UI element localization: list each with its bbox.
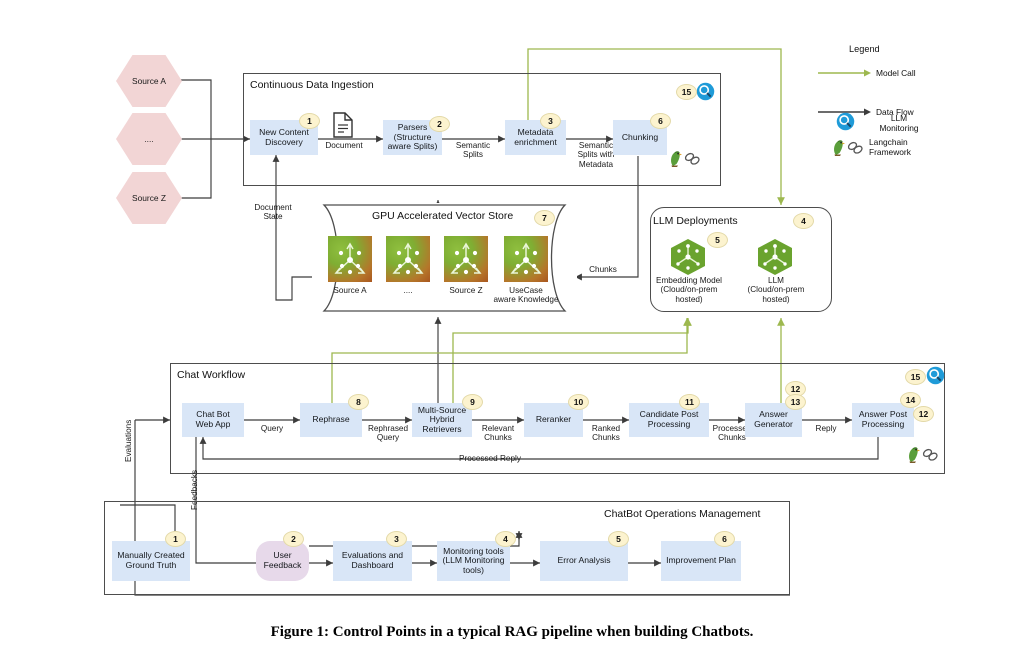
llm-icon (755, 238, 795, 276)
node-label: User Feedback (264, 551, 302, 570)
group-title-vector-store: GPU Accelerated Vector Store (372, 210, 513, 222)
legend-label-llm-monitoring: LLM Monitoring (872, 113, 926, 133)
node-label: Chat Bot Web App (196, 410, 231, 429)
node-label: Evaluations and Dashboard (342, 551, 403, 570)
llm-monitoring-icon (836, 112, 855, 131)
badge-chat-13: 13 (785, 394, 806, 410)
badge-chat-14: 14 (900, 392, 921, 408)
node-label: Improvement Plan (666, 556, 736, 566)
vector-tile-caption: Source A (324, 286, 376, 295)
vector-tile-usecase (504, 236, 548, 282)
edge-label-rephrased-query: Rephrased Query (363, 424, 413, 443)
node-label: Multi-Source Hybrid Retrievers (418, 406, 466, 435)
node-answer-post-processing[interactable]: Answer Post Processing (852, 403, 914, 437)
edge-label-document: Document (322, 141, 366, 150)
legend-label-model-call: Model Call (876, 68, 916, 78)
group-title-ops: ChatBot Operations Management (604, 508, 760, 520)
node-label: Answer Post Processing (859, 410, 907, 429)
edge-label-query: Query (252, 424, 292, 433)
node-manually-created-ground-truth[interactable]: Manually Created Ground Truth (112, 541, 190, 581)
langchain-framework-icon (667, 148, 701, 168)
node-multi-source-hybrid-retrievers[interactable]: Multi-Source Hybrid Retrievers (412, 403, 472, 437)
badge-ingestion-1: 1 (299, 113, 320, 129)
vector-tile-caption: UseCase aware Knowledge (492, 286, 560, 305)
node-improvement-plan[interactable]: Improvement Plan (661, 541, 741, 581)
edge-label-chunks: Chunks (583, 265, 623, 274)
node-error-analysis[interactable]: Error Analysis (540, 541, 628, 581)
node-label: Chunking (622, 133, 658, 143)
edge-label-document-state: Document State (248, 203, 298, 222)
node-evaluations-and-dashboard[interactable]: Evaluations and Dashboard (333, 541, 412, 581)
vector-tile-caption: Source Z (440, 286, 492, 295)
badge-ops-6: 6 (714, 531, 735, 547)
vector-tile-ellipsis (386, 236, 430, 282)
group-title-ingestion: Continuous Data Ingestion (250, 79, 374, 91)
embedding-model-label: Embedding Model (Cloud/on-prem hosted) (651, 276, 727, 304)
source-hexagon-ellipsis: .... (116, 113, 182, 165)
side-label-evaluations: Evaluations (124, 420, 133, 462)
badge-ops-1: 1 (165, 531, 186, 547)
diagram-canvas: Source A .... Source Z Continuous Data I… (0, 0, 1024, 664)
vector-tile-caption: .... (382, 286, 434, 295)
badge-embedding-model-5: 5 (707, 232, 728, 248)
node-label: Answer Generator (754, 410, 793, 429)
source-hexagon-z: Source Z (116, 172, 182, 224)
figure-caption: Figure 1: Control Points in a typical RA… (0, 624, 1024, 641)
document-icon (332, 112, 354, 138)
node-label: Manually Created Ground Truth (117, 551, 184, 570)
group-title-chat-workflow: Chat Workflow (177, 369, 245, 381)
badge-chat-10: 10 (568, 394, 589, 410)
badge-chat-15: 15 (905, 369, 926, 385)
node-chat-bot-web-app[interactable]: Chat Bot Web App (182, 403, 244, 437)
llm-monitoring-icon (926, 366, 945, 385)
langchain-framework-icon (905, 444, 939, 464)
legend-label-langchain-framework: Langchain Framework (869, 137, 911, 157)
badge-ingestion-6: 6 (650, 113, 671, 129)
edge-label-semantic-splits: Semantic Splits (447, 141, 499, 160)
vector-tile-source-z (444, 236, 488, 282)
source-label: Source Z (132, 193, 166, 203)
node-label: Error Analysis (557, 556, 610, 566)
node-label: Rephrase (312, 415, 349, 425)
source-label: Source A (132, 76, 166, 86)
badge-ingestion-15: 15 (676, 84, 697, 100)
node-user-feedback[interactable]: User Feedback (256, 541, 309, 581)
embedding-model-icon (668, 238, 708, 276)
badge-chat-12b: 12 (913, 406, 934, 422)
llm-monitoring-icon (696, 82, 715, 101)
vector-tile-source-a (328, 236, 372, 282)
source-hexagon-a: Source A (116, 55, 182, 107)
edge-label-reply: Reply (806, 424, 846, 433)
badge-chat-11: 11 (679, 394, 700, 410)
badge-ops-2: 2 (283, 531, 304, 547)
badge-chat-8: 8 (348, 394, 369, 410)
node-candidate-post-processing[interactable]: Candidate Post Processing (629, 403, 709, 437)
badge-chat-9: 9 (462, 394, 483, 410)
node-label: New Content Discovery (259, 128, 309, 147)
legend-model-call-arrow-icon (818, 68, 874, 78)
badge-ops-4: 4 (495, 531, 516, 547)
langchain-framework-icon (830, 137, 864, 157)
node-monitoring-tools[interactable]: Monitoring tools (LLM Monitoring tools) (437, 541, 510, 581)
node-label: Monitoring tools (LLM Monitoring tools) (442, 547, 504, 576)
badge-ops-5: 5 (608, 531, 629, 547)
node-label: Candidate Post Processing (640, 410, 699, 429)
badge-ingestion-2: 2 (429, 116, 450, 132)
group-title-llm-deployments: LLM Deployments (653, 215, 738, 227)
llm-label: LLM (Cloud/on-prem hosted) (736, 276, 816, 304)
edge-label-processed-reply: Processed Reply (435, 454, 545, 463)
badge-ops-3: 3 (386, 531, 407, 547)
node-label: Reranker (536, 415, 571, 425)
source-label: .... (144, 134, 153, 144)
badge-vector-store-7: 7 (534, 210, 555, 226)
edge-label-relevant-chunks: Relevant Chunks (472, 424, 524, 443)
legend-title: Legend (849, 44, 880, 54)
node-label: Metadata enrichment (514, 128, 557, 147)
badge-ingestion-3: 3 (540, 113, 561, 129)
badge-llm-deployments-4: 4 (793, 213, 814, 229)
edge-label-ranked-chunks: Ranked Chunks (582, 424, 630, 443)
